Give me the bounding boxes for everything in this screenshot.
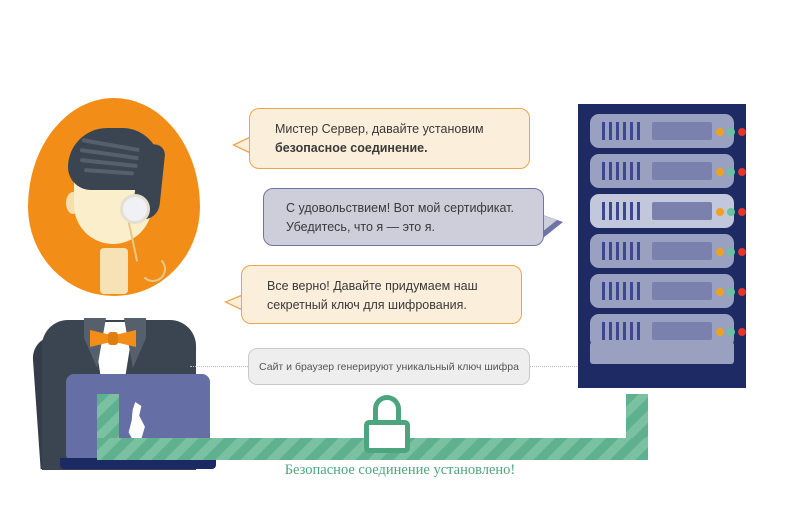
secure-connection-caption: Безопасное соединение установлено! [0, 462, 800, 479]
server-rack [578, 104, 746, 388]
server-led-amber [716, 128, 724, 136]
bubble-client-1-line2: безопасное соединение. [275, 141, 428, 155]
monocle-chain-loop [140, 256, 166, 282]
padlock-icon [364, 395, 410, 453]
server-led-green [727, 168, 735, 176]
bow-tie-knot [108, 332, 118, 345]
server-led-green [727, 328, 735, 336]
bubble-client-2: Все верно! Давайте придумаем наш секретн… [241, 265, 522, 324]
bubble-client-1-line1: Мистер Сервер, давайте установим [275, 122, 484, 136]
server-unit-active [590, 194, 734, 228]
server-led-amber [716, 248, 724, 256]
server-vents-icon [602, 162, 644, 180]
key-link-left [190, 366, 248, 367]
server-vents-icon [602, 322, 644, 340]
padlock-body [364, 420, 410, 453]
neck [100, 248, 128, 294]
key-exchange-box: Сайт и браузер генерируют уникальный клю… [248, 348, 530, 385]
server-led-red [738, 168, 746, 176]
server-vents-icon [602, 202, 644, 220]
bubble-tail-client-1 [235, 138, 250, 152]
server-vents-icon [602, 282, 644, 300]
server-vents-icon [602, 122, 644, 140]
server-panel [652, 322, 712, 340]
hair-strand [80, 158, 138, 168]
hair-strand [84, 168, 134, 175]
bubble-tail-client-2 [227, 296, 242, 309]
server-led-red [738, 128, 746, 136]
server-base-panel [590, 342, 734, 364]
bubble-server-1-text: С удовольствием! Вот мой сертификат. Убе… [286, 199, 543, 237]
bubble-client-1-text: Мистер Сервер, давайте установим безопас… [275, 120, 529, 158]
server-unit [590, 154, 734, 188]
key-link-right [530, 366, 583, 367]
bubble-server-1: С удовольствием! Вот мой сертификат. Убе… [263, 188, 544, 246]
server-led-amber [716, 288, 724, 296]
server-led-amber [716, 328, 724, 336]
server-vents-icon [602, 242, 644, 260]
server-panel [652, 202, 712, 220]
infographic-canvas: Мистер Сервер, давайте установим безопас… [0, 0, 800, 523]
server-led-red [738, 248, 746, 256]
server-panel [652, 122, 712, 140]
server-unit [590, 114, 734, 148]
server-unit [590, 234, 734, 268]
monocle-icon [120, 194, 150, 224]
bubble-client-2-text: Все верно! Давайте придумаем наш секретн… [267, 277, 521, 315]
laptop-logo-icon [126, 402, 148, 442]
server-led-red [738, 328, 746, 336]
server-panel [652, 242, 712, 260]
server-led-red [738, 288, 746, 296]
bubble-tail-server-1 [542, 215, 557, 232]
server-led-amber [716, 168, 724, 176]
server-panel [652, 162, 712, 180]
key-exchange-label: Сайт и браузер генерируют уникальный клю… [259, 361, 519, 373]
server-unit [590, 274, 734, 308]
bubble-client-1: Мистер Сервер, давайте установим безопас… [249, 108, 530, 169]
server-panel [652, 282, 712, 300]
server-led-green [727, 208, 735, 216]
server-led-green [727, 128, 735, 136]
server-led-green [727, 248, 735, 256]
server-led-amber [716, 208, 724, 216]
server-led-green [727, 288, 735, 296]
client-character [28, 98, 208, 398]
server-led-red [738, 208, 746, 216]
